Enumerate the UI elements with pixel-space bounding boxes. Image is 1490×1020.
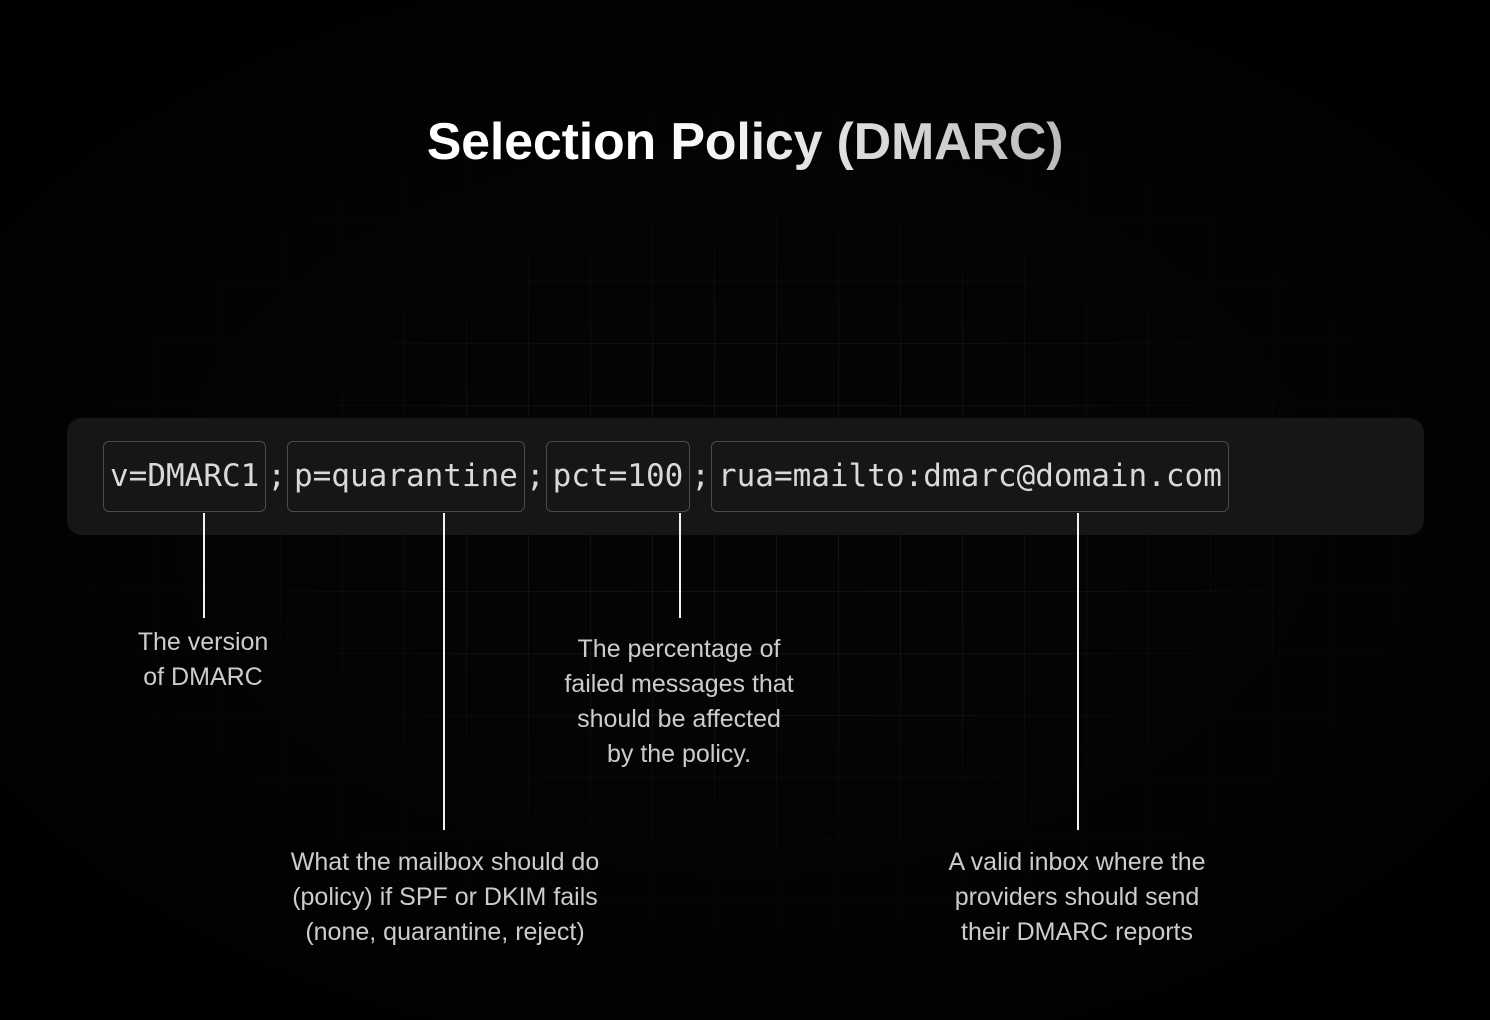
annotation-policy: What the mailbox should do (policy) if S… [240,845,650,950]
record-tag-version[interactable]: v=DMARC1 [103,441,266,512]
connector-line-percent [679,513,681,618]
connector-line-policy [443,513,445,830]
record-separator-3: ; [690,461,711,492]
canvas: Selection Policy (DMARC) v=DMARC1 ; p=qu… [0,0,1490,1020]
record-tag-rua[interactable]: rua=mailto:dmarc@domain.com [711,441,1229,512]
connector-line-version [203,513,205,618]
annotation-percent: The percentage of failed messages that s… [509,632,849,772]
record-separator-2: ; [525,461,546,492]
annotation-rua: A valid inbox where the providers should… [897,845,1257,950]
annotation-version: The version of DMARC [78,625,328,695]
connector-line-rua [1077,513,1079,830]
dmarc-record-panel: v=DMARC1 ; p=quarantine ; pct=100 ; rua=… [67,418,1424,535]
page-title: Selection Policy (DMARC) [0,113,1490,173]
record-tag-policy[interactable]: p=quarantine [287,441,525,512]
record-tag-percent[interactable]: pct=100 [546,441,691,512]
dmarc-record-row: v=DMARC1 ; p=quarantine ; pct=100 ; rua=… [103,441,1229,512]
record-separator-1: ; [266,461,287,492]
